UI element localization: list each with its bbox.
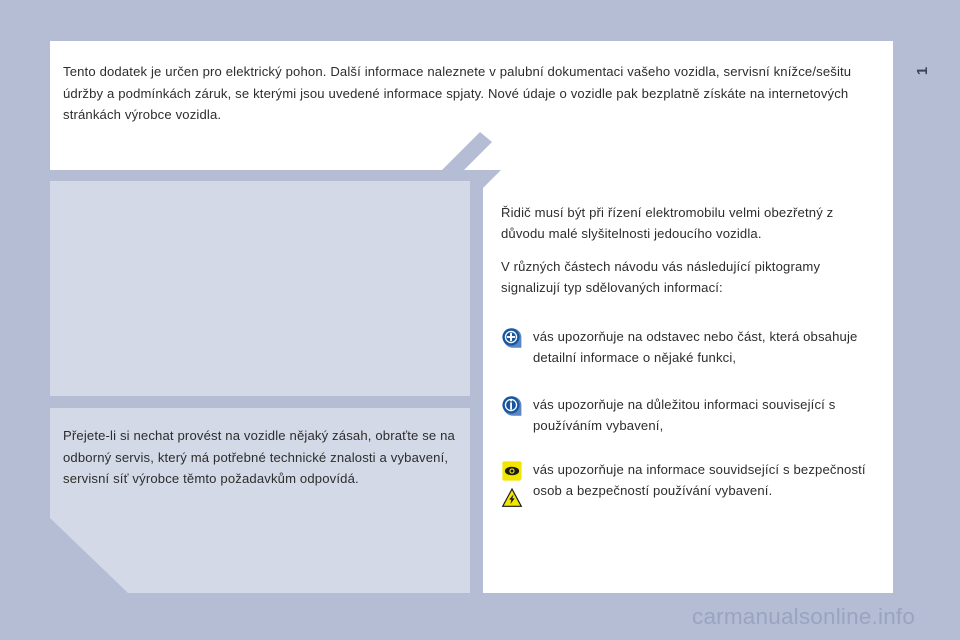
service-note-box: Přejete-li si nechat provést na vozidle …: [50, 408, 470, 593]
info-badge-icon: [501, 395, 523, 417]
left-placeholder-box: [50, 181, 470, 396]
legend-icon-group: [491, 325, 533, 349]
plus-badge-icon: [501, 327, 523, 349]
watermark: carmanualsonline.info: [692, 604, 915, 630]
eye-warning-icon: [501, 460, 523, 482]
legend-icon-group: [491, 458, 533, 508]
intro-banner-text: Tento dodatek je určen pro elektrický po…: [63, 61, 863, 126]
legend-item-detail-info: vás upozorňuje na odstavec nebo část, kt…: [491, 325, 883, 368]
service-note-text: Přejete-li si nechat provést na vozidle …: [63, 425, 458, 490]
legend-icon-group: [491, 393, 533, 417]
legend-item-important-info: vás upozorňuje na důležitou informaci so…: [491, 393, 883, 436]
document-page: 1 Tento dodatek je určen pro elektrický …: [0, 0, 960, 640]
legend-item-text: vás upozorňuje na důležitou informaci so…: [533, 393, 883, 436]
legend-item-text: vás upozorňuje na informace souvidsející…: [533, 458, 883, 501]
pictogram-panel: Řidič musí být při řízení elektromobilu …: [483, 140, 893, 593]
legend-item-safety-info: vás upozorňuje na informace souvidsející…: [491, 458, 883, 508]
page-number: 1: [908, 56, 938, 86]
electric-hazard-icon: [501, 487, 523, 508]
pictogram-intro-paragraph-1: Řidič musí být při řízení elektromobilu …: [501, 202, 881, 244]
pictogram-intro-paragraph-2: V různých částech návodu vás následující…: [501, 256, 881, 298]
legend-item-text: vás upozorňuje na odstavec nebo část, kt…: [533, 325, 883, 368]
pictogram-intro: Řidič musí být při řízení elektromobilu …: [501, 202, 881, 310]
